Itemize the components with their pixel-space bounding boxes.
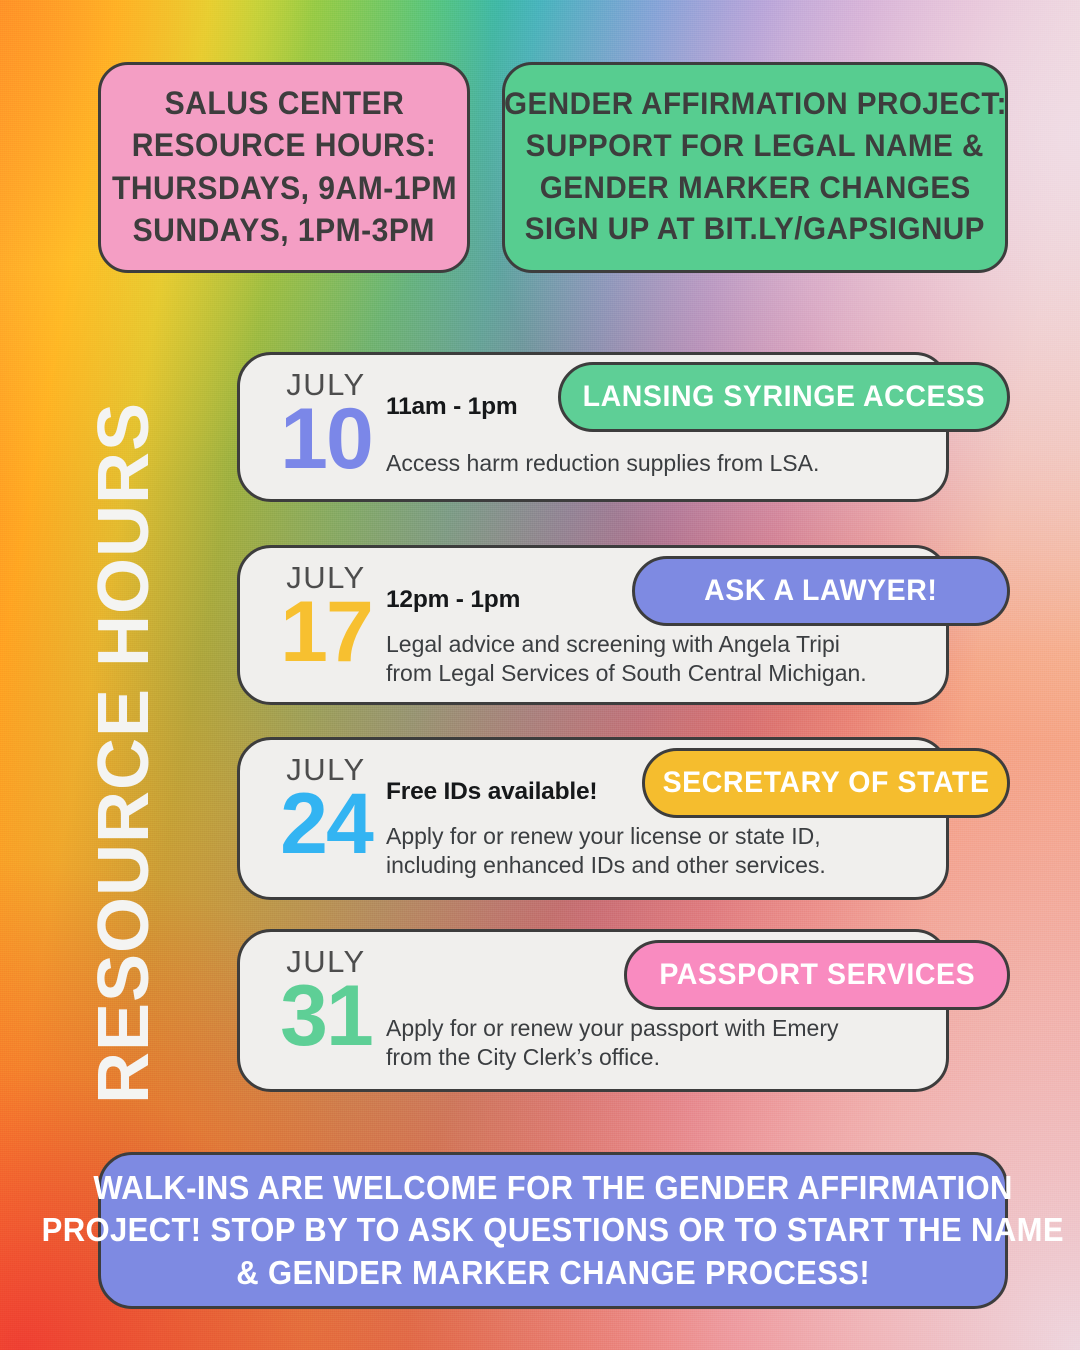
event-day: 10 <box>268 396 384 482</box>
side-title-resource-hours: RESOURCE HOURS <box>83 373 165 1133</box>
event-day: 17 <box>268 589 384 675</box>
salus-hours-line-3: Thursdays, 9am-1pm <box>112 167 457 209</box>
event-description: Apply for or renew your license or state… <box>386 822 826 879</box>
event-badge-label: Lansing Syringe Access <box>583 380 986 414</box>
event-badge[interactable]: Passport Services <box>624 940 1010 1010</box>
event-time: Free IDs available! <box>386 778 597 806</box>
event-date: JULY 10 <box>268 369 384 482</box>
walk-in-banner: Walk-ins are welcome for the Gender Affi… <box>98 1152 1008 1309</box>
salus-hours-box: Salus Center Resource Hours: Thursdays, … <box>98 62 470 273</box>
event-date: JULY 24 <box>268 754 384 867</box>
gap-line-3: Gender Marker Changes <box>539 167 970 209</box>
walk-in-banner-line-1: Walk-ins are welcome for the Gender Affi… <box>93 1167 1012 1209</box>
event-badge[interactable]: Secretary of State <box>642 748 1010 818</box>
event-badge-label: Passport Services <box>659 958 975 992</box>
event-time: 12pm - 1pm <box>386 586 520 614</box>
event-description: Apply for or renew your passport with Em… <box>386 1014 839 1071</box>
event-badge[interactable]: Lansing Syringe Access <box>558 362 1010 432</box>
walk-in-banner-line-2: Project! Stop by to ask questions or to … <box>42 1209 1064 1251</box>
gap-line-1: Gender Affirmation Project: <box>504 83 1007 125</box>
event-date: JULY 31 <box>268 946 384 1059</box>
salus-hours-line-1: Salus Center <box>164 82 404 124</box>
gap-line-2: Support for Legal Name & <box>526 125 984 167</box>
salus-hours-line-4: Sundays, 1pm-3pm <box>133 209 435 251</box>
event-day: 24 <box>268 781 384 867</box>
gender-affirmation-project-box: Gender Affirmation Project: Support for … <box>502 62 1008 273</box>
salus-hours-line-2: Resource Hours: <box>132 124 437 166</box>
event-badge-label: Secretary of State <box>663 766 990 800</box>
event-description: Access harm reduction supplies from LSA. <box>386 449 819 478</box>
gap-signup-link[interactable]: Sign up at bit.ly/GAPsignup <box>525 208 985 250</box>
event-date: JULY 17 <box>268 562 384 675</box>
event-badge[interactable]: Ask a Lawyer! <box>632 556 1010 626</box>
event-day: 31 <box>268 973 384 1059</box>
event-time: 11am - 1pm <box>386 393 517 421</box>
walk-in-banner-line-3: & Gender Marker Change Process! <box>236 1252 870 1294</box>
poster-stage: Salus Center Resource Hours: Thursdays, … <box>0 0 1080 1350</box>
event-badge-label: Ask a Lawyer! <box>704 574 937 608</box>
event-description: Legal advice and screening with Angela T… <box>386 630 867 687</box>
